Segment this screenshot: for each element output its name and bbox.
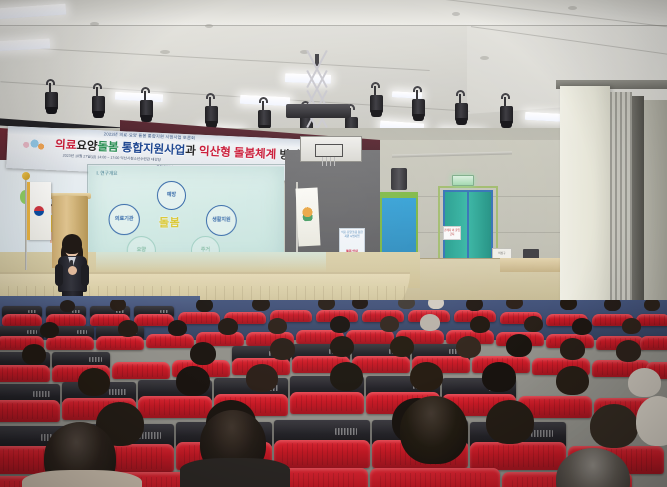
stage-spotlight [455, 103, 468, 129]
audience-shoulder [180, 458, 290, 487]
ceiling-vent [452, 12, 460, 16]
audience-head [616, 340, 641, 362]
banner-seg-3: 통합지원사업 [118, 142, 185, 157]
presenter-hair [62, 234, 82, 254]
slide-bubble-0: 예방 [157, 181, 186, 210]
korean-flag [27, 182, 51, 240]
audience-head [572, 318, 592, 335]
door-notice-text: 관계자 외 출입금지 [444, 229, 460, 236]
exit-sign [452, 175, 474, 186]
audience-head [486, 400, 534, 444]
audience-head [604, 300, 621, 311]
banner-seg-0: 의료 [55, 139, 77, 152]
audience-head [628, 368, 661, 397]
audience-head [410, 362, 443, 391]
flag-finial-icon [22, 172, 30, 180]
audience-head [252, 300, 270, 311]
banner-seg-1: 요양 [76, 140, 98, 153]
audience-head [352, 300, 368, 309]
audience-head [506, 300, 523, 309]
audience-head [590, 404, 638, 448]
basketball-hoop-icon [315, 144, 343, 157]
theater-seat[interactable] [2, 314, 42, 326]
audience-head [110, 300, 126, 311]
audience-head [270, 338, 295, 360]
partition-shadow-edge [632, 96, 644, 314]
slide-title: Ⅰ. 연구개요 [96, 171, 117, 177]
slide-center-label: 돌봄 [159, 214, 180, 230]
audience-head [60, 300, 75, 312]
taeguk-blue-half [34, 211, 44, 216]
audience-head [218, 318, 238, 335]
audience-head [506, 334, 532, 357]
theater-seat[interactable] [0, 400, 60, 422]
audience-head [118, 320, 138, 337]
theater-seat[interactable] [640, 336, 667, 350]
audience-head [482, 362, 516, 392]
stage-spotlight [92, 96, 105, 122]
theater-seat[interactable] [0, 365, 50, 382]
audience-head [168, 320, 187, 336]
slide-bubble-label: 의료기관 [115, 217, 134, 222]
audience-head [246, 364, 278, 392]
audience-head [556, 366, 589, 395]
audience-head [330, 336, 354, 357]
audience-head [428, 300, 444, 309]
audience-head [456, 336, 481, 358]
audience-head [176, 366, 210, 396]
presenter-hand [68, 266, 77, 275]
side-door-left-header [380, 192, 418, 198]
audience-head [330, 362, 363, 391]
banner-seg-5: 익산형 돌봄체계 [199, 146, 277, 161]
theater-seat[interactable] [46, 336, 94, 350]
partition-accordion-fold [610, 92, 632, 314]
audience-seating-area [0, 300, 667, 487]
stage-spotlight [412, 99, 425, 125]
theater-seat[interactable] [470, 442, 566, 470]
audience-head [644, 300, 660, 311]
slide-bubble-1: 의료기관 [109, 204, 140, 235]
audience-head [560, 300, 577, 310]
ceiling-projector [286, 104, 350, 118]
audience-head [318, 300, 335, 310]
audience-head [22, 344, 46, 365]
theater-seat[interactable] [112, 362, 170, 379]
theater-seat[interactable] [274, 440, 370, 468]
audience-head [268, 318, 287, 334]
stage-spotlight [45, 92, 58, 118]
audience-head [398, 300, 415, 309]
wall-speaker [391, 168, 407, 190]
ceiling-vent [90, 22, 99, 26]
audience-head [380, 316, 399, 332]
audience-head [420, 314, 440, 331]
ceiling-vent [205, 24, 213, 28]
stage-floor-reflection [96, 252, 326, 272]
audience-head [78, 368, 110, 396]
slide-bubble-2: 생활지원 [206, 205, 237, 236]
audience-head-foreground [636, 396, 667, 446]
banner-seg-4: 과 [185, 145, 199, 158]
audience-head [560, 338, 585, 360]
audience-head [466, 300, 483, 311]
ceiling-vent [480, 56, 489, 60]
theater-seat[interactable] [138, 396, 212, 418]
audience-head [40, 322, 59, 338]
audience-head [622, 318, 641, 334]
audience-head [470, 316, 490, 333]
audience-head [196, 300, 213, 312]
theater-seat[interactable] [146, 334, 194, 348]
far-right-wall [644, 100, 667, 312]
slide-bubble-label: 생활지원 [212, 218, 230, 223]
roll-banner-top-text: 의료·요양 돌봄 통합지원 시범사업 [341, 231, 363, 239]
audience-head [330, 316, 350, 333]
wall-plaque-text: 비상구 [492, 251, 512, 255]
audience-head-foreground [400, 396, 468, 464]
organization-flag-emblem [300, 205, 316, 222]
audience-head [524, 316, 543, 332]
audience-head [390, 336, 414, 357]
theater-seat[interactable] [370, 468, 500, 487]
audience-head [190, 342, 216, 365]
basketball-net-icon [322, 157, 336, 166]
stage-spotlight [370, 95, 383, 121]
slide-bubble-label: 예방 [167, 193, 176, 198]
flag-gold-trim [27, 182, 30, 240]
auditorium-photo: 2023년 의료·요양 돌봄 통합지원 시범사업 토론회 의료요양돌봄 통합지원… [0, 0, 667, 487]
banner-illustration-left [17, 134, 48, 155]
banner-seg-2: 돌봄 [97, 141, 119, 154]
ceiling-vent [160, 50, 170, 54]
theater-seat[interactable] [96, 336, 144, 350]
audience-shoulder [22, 470, 142, 487]
folding-partition-panel [560, 86, 610, 316]
theater-seat[interactable] [290, 392, 364, 414]
ceiling-vent [568, 6, 577, 10]
